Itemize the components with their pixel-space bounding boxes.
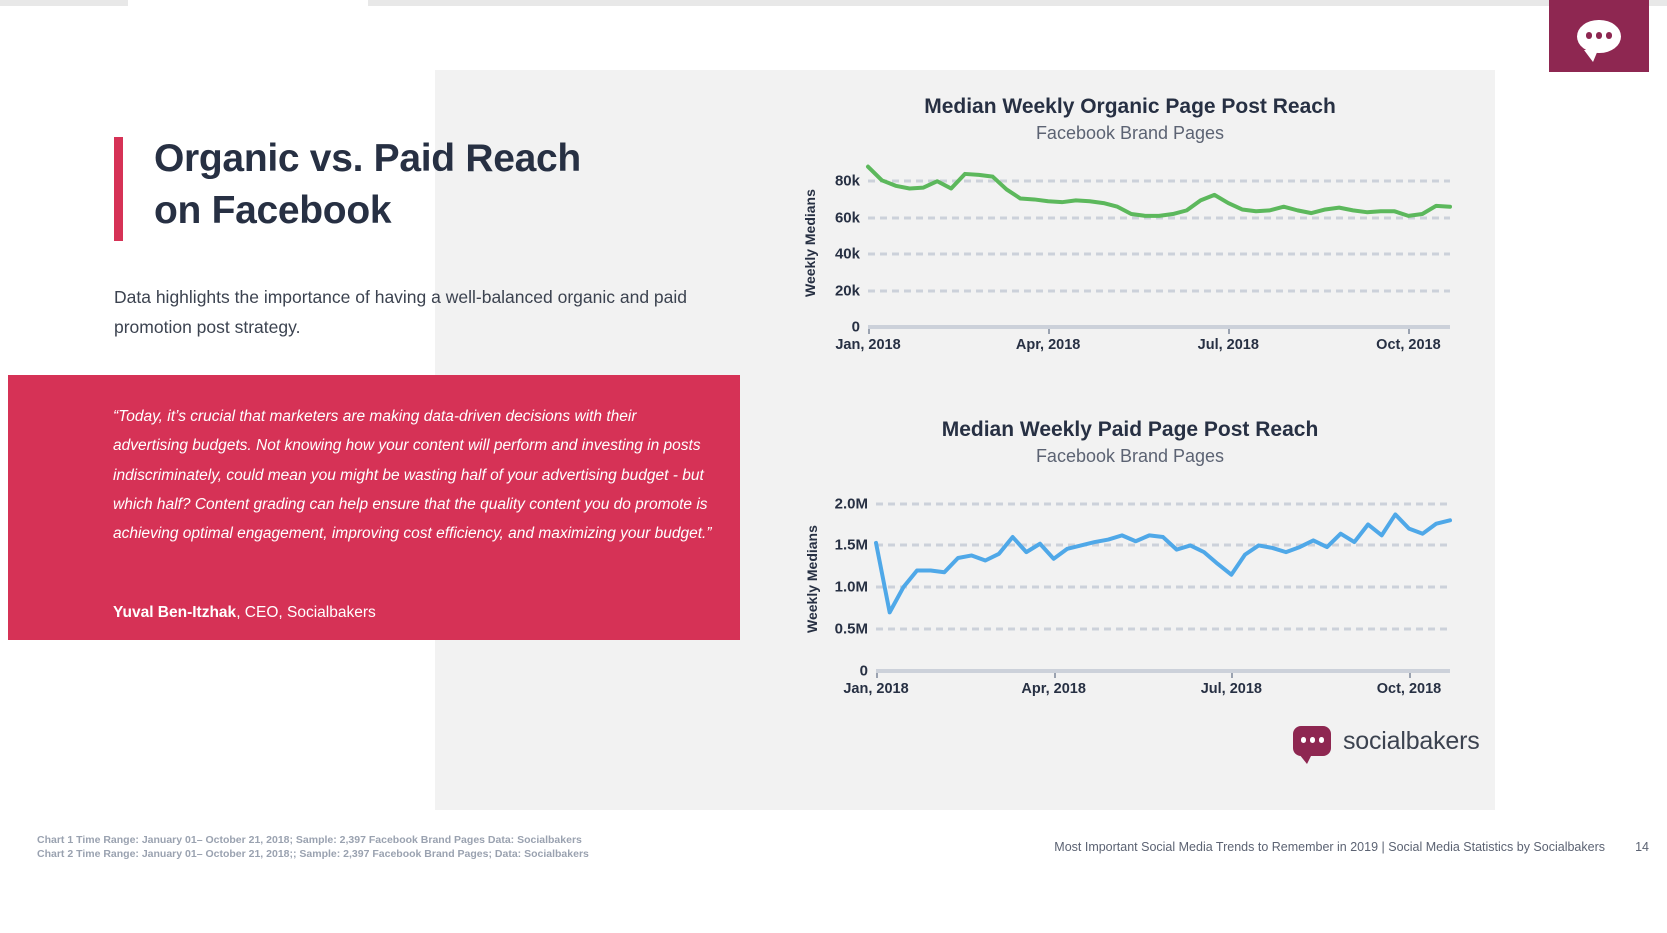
socialbakers-logo: socialbakers [1293, 726, 1480, 756]
chart-organic-plot: Weekly Medians020k40k60k80kJan, 2018Apr,… [790, 155, 1470, 365]
page-title-block: Organic vs. Paid Reach on Facebook [114, 133, 734, 237]
page-title-line1: Organic vs. Paid Reach [154, 133, 734, 185]
page-title: Organic vs. Paid Reach on Facebook [154, 133, 734, 237]
quote-block: “Today, it’s crucial that marketers are … [8, 375, 740, 640]
quote-attribution: Yuval Ben-Itzhak, CEO, Socialbakers [113, 604, 376, 622]
socialbakers-wordmark: socialbakers [1343, 727, 1480, 756]
footer-source-note: Chart 1 Time Range: January 01– October … [37, 834, 589, 861]
quote-role: , CEO, Socialbakers [236, 604, 376, 621]
speech-bubble-icon [1293, 726, 1331, 756]
organic-series-line [790, 155, 1470, 365]
chart-paid: Median Weekly Paid Page Post Reach Faceb… [790, 418, 1470, 718]
paid-series-line [790, 481, 1470, 713]
page-number: 14 [1635, 840, 1649, 854]
page-subtitle: Data highlights the importance of having… [114, 282, 714, 342]
chart-organic-subtitle: Facebook Brand Pages [790, 123, 1470, 144]
chart-organic-title: Median Weekly Organic Page Post Reach [790, 95, 1470, 119]
footer-deck-title: Most Important Social Media Trends to Re… [1054, 840, 1605, 854]
chart-paid-subtitle: Facebook Brand Pages [790, 446, 1470, 467]
chart-paid-plot: Weekly Medians00.5M1.0M1.5M2.0MJan, 2018… [790, 481, 1470, 713]
quote-author: Yuval Ben-Itzhak [113, 604, 236, 621]
brand-badge [1549, 0, 1649, 72]
title-accent-bar [114, 137, 123, 241]
chart-organic: Median Weekly Organic Page Post Reach Fa… [790, 95, 1470, 365]
page-title-line2: on Facebook [154, 185, 734, 237]
speech-bubble-icon [1577, 20, 1621, 53]
quote-text: “Today, it’s crucial that marketers are … [113, 402, 713, 548]
window-tab[interactable] [128, 0, 368, 6]
chart-paid-title: Median Weekly Paid Page Post Reach [790, 418, 1470, 442]
footer-note-line2: Chart 2 Time Range: January 01– October … [37, 848, 589, 862]
footer-note-line1: Chart 1 Time Range: January 01– October … [37, 834, 589, 848]
slide-root: Organic vs. Paid Reach on Facebook Data … [0, 0, 1667, 933]
